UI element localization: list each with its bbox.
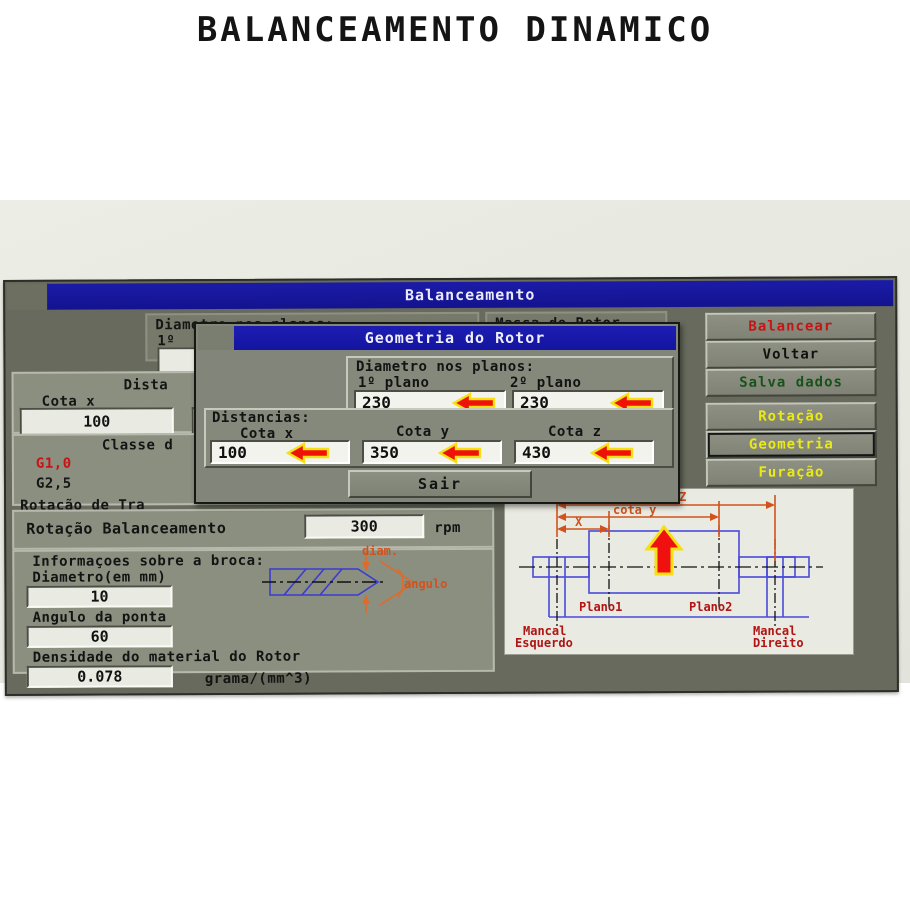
field-broca-angulo[interactable]: 60 <box>27 625 173 648</box>
button-salva-dados[interactable]: Salva dados <box>705 368 876 397</box>
drill-bit-diagram: diam. angulo <box>262 545 452 620</box>
diagram-plano2-label: Plano2 <box>689 600 732 614</box>
label-broca-diametro: Diametro(em mm) <box>32 569 166 586</box>
label-rotacao-balanceamento: Rotação Balanceamento <box>26 519 226 538</box>
button-voltar-label: Voltar <box>763 346 820 362</box>
main-window-titlebar: Balanceamento <box>47 280 893 310</box>
drill-diam-label: diam. <box>362 545 398 558</box>
dialog-label-plano1: 1º plano <box>358 375 429 391</box>
field-rotacao-balanceamento[interactable]: 300 <box>304 514 424 539</box>
button-furacao-label: Furação <box>758 464 824 480</box>
dialog-sair-button[interactable]: Sair <box>348 470 532 498</box>
arrow-marker-cota-y-icon <box>438 442 482 464</box>
label-broca-angulo: Angulo da ponta <box>33 609 167 626</box>
arrow-marker-cota-z-icon <box>590 442 634 464</box>
button-voltar[interactable]: Voltar <box>705 340 876 369</box>
arrow-marker-cota-x-icon <box>286 442 330 464</box>
diagram-mancal-direito-line2: Direito <box>753 636 804 650</box>
diagram-plano1-label: Plano1 <box>579 600 622 614</box>
button-rotacao-label: Rotação <box>758 408 824 424</box>
field-broca-diametro[interactable]: 10 <box>26 585 172 608</box>
page-title: BALANCEAMENTO DINAMICO <box>0 10 910 50</box>
dialog-sair-button-label: Sair <box>418 475 462 493</box>
button-geometria[interactable]: Geometria <box>706 430 877 459</box>
rotor-diagram-panel: cota Z cota y X Plano1 Plano2 Mancal Esq… <box>504 488 854 655</box>
label-densidade: Densidade do material do Rotor <box>33 649 301 666</box>
label-distancias-bg: Dista <box>124 377 169 393</box>
field-densidade[interactable]: 0.078 <box>27 665 173 688</box>
dialog-label-diametro-heading: Diametro nos planos: <box>356 359 535 375</box>
dialog-label-cota-z: Cota z <box>548 424 602 440</box>
dialog-label-plano2: 2º plano <box>510 375 581 391</box>
diagram-x-label: X <box>575 515 583 529</box>
label-classe-g10[interactable]: G1,0 <box>36 456 72 472</box>
label-densidade-unit: grama/(mm^3) <box>205 671 312 687</box>
dialog-titlebar: Geometria do Rotor <box>234 326 676 350</box>
dialog-label-distancias-heading: Distancias: <box>212 410 310 426</box>
button-balancear[interactable]: Balancear <box>705 312 876 341</box>
label-classe-g25[interactable]: G2,5 <box>36 476 72 492</box>
button-balancear-label: Balancear <box>748 318 833 334</box>
drill-angulo-label: angulo <box>404 577 447 591</box>
button-salva-dados-label: Salva dados <box>739 374 843 390</box>
label-rpm-unit: rpm <box>434 520 461 536</box>
label-classe: Classe d <box>102 437 174 453</box>
diagram-cota-y-label: cota y <box>613 503 656 517</box>
diagram-mancal-esquerdo-line2: Esquerdo <box>515 636 573 650</box>
window-system-menu-box[interactable] <box>7 284 48 310</box>
geometria-do-rotor-dialog: Geometria do Rotor Diametro nos planos: … <box>194 322 680 504</box>
field-cota-x-bg[interactable]: 100 <box>20 407 174 436</box>
button-furacao[interactable]: Furação <box>706 458 877 487</box>
button-rotacao[interactable]: Rotação <box>706 402 877 431</box>
dialog-system-menu-box[interactable] <box>198 326 235 350</box>
dialog-label-cota-y: Cota y <box>396 424 450 440</box>
button-geometria-label: Geometria <box>749 436 834 452</box>
label-broca-heading: Informaçoes sobre a broca: <box>32 553 264 570</box>
